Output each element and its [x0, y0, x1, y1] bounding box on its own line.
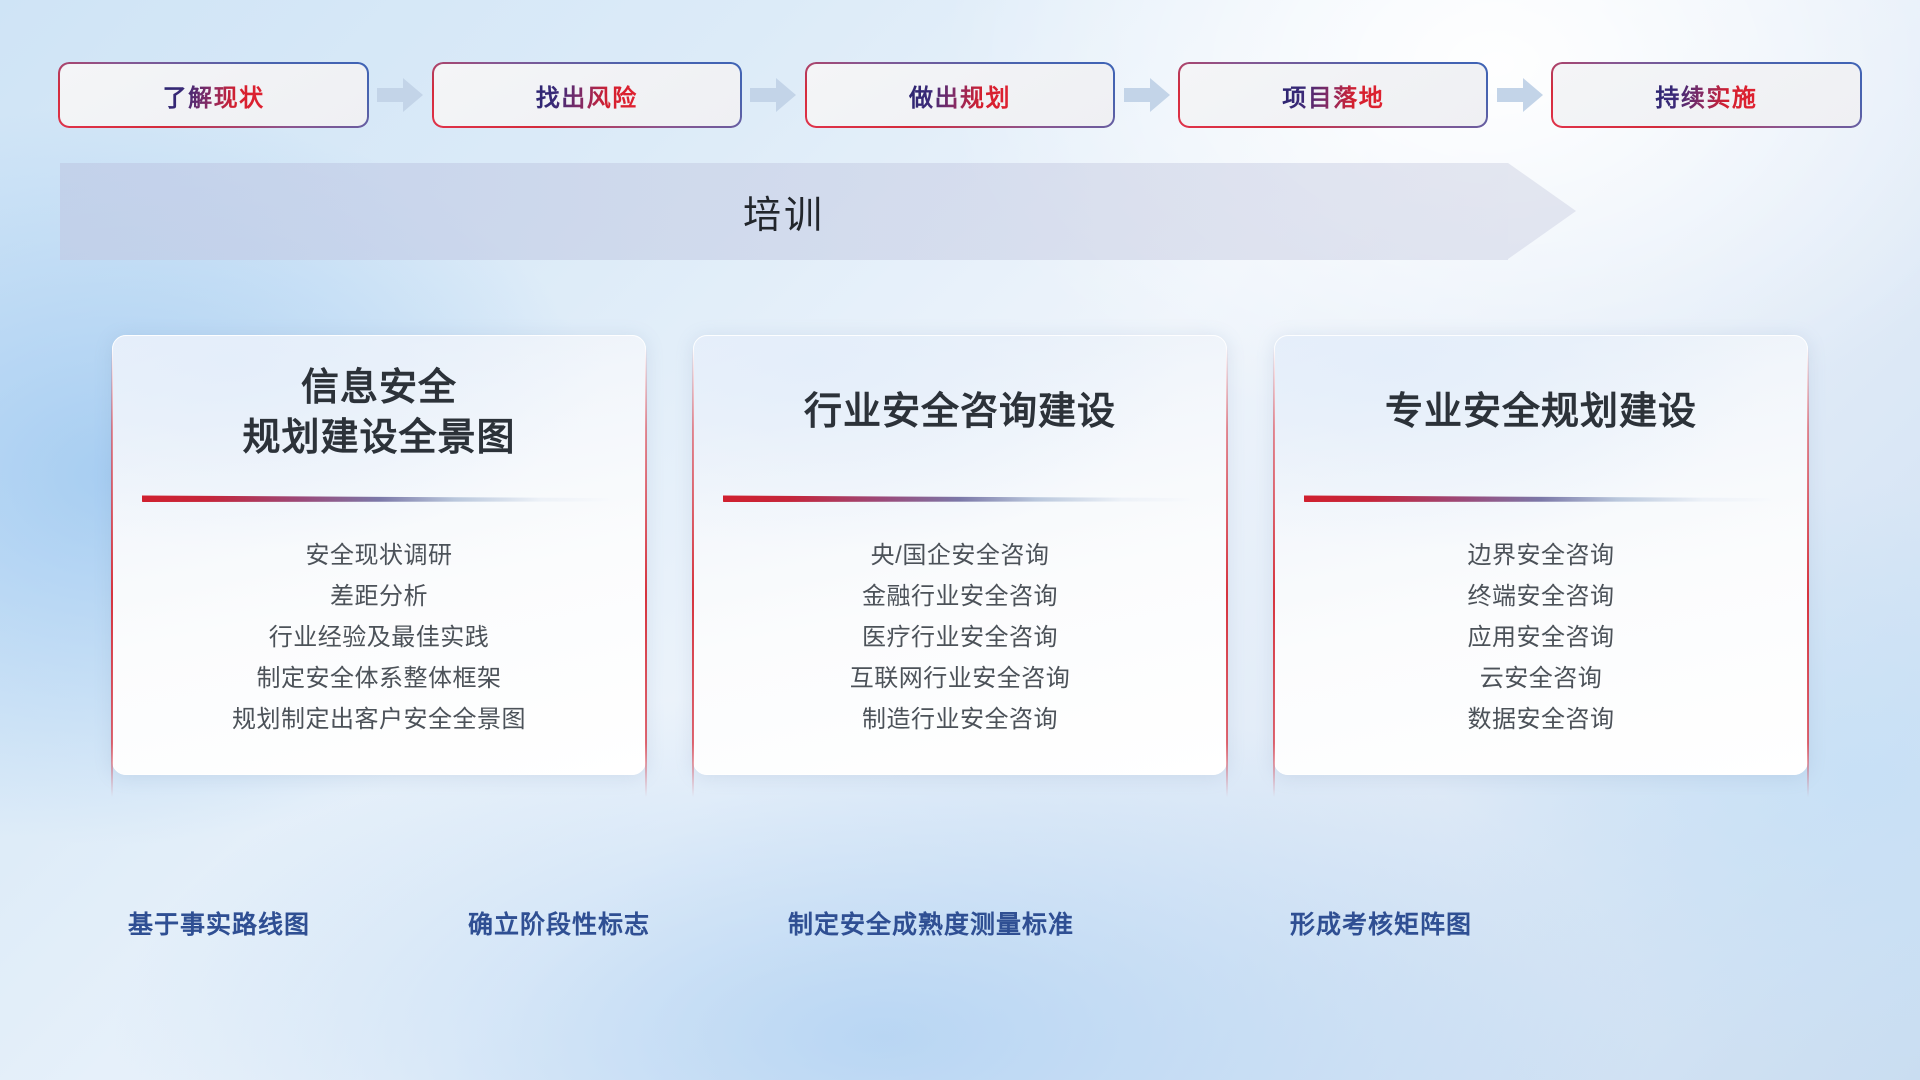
step-label-2: 找出风险	[536, 78, 638, 113]
card-title: 信息安全 规划建设全景图	[112, 363, 646, 463]
list-item: 规划制定出客户安全全景图	[112, 699, 646, 740]
step-arrow-3	[1114, 64, 1180, 126]
list-item: 差距分析	[112, 576, 646, 617]
step-label-3: 做出规划	[909, 78, 1011, 113]
list-item: 数据安全咨询	[1274, 699, 1808, 740]
list-item: 制定安全体系整体框架	[112, 658, 646, 699]
list-item: 云安全咨询	[1274, 658, 1808, 699]
card-divider	[142, 495, 616, 502]
list-item: 应用安全咨询	[1274, 617, 1808, 658]
step-box-5[interactable]: 持续实施	[1553, 64, 1860, 126]
card-item-list: 边界安全咨询 终端安全咨询 应用安全咨询 云安全咨询 数据安全咨询	[1274, 535, 1808, 740]
arrow-right-icon	[377, 78, 423, 112]
card-item-list: 央/国企安全咨询 金融行业安全咨询 医疗行业安全咨询 互联网行业安全咨询 制造行…	[693, 535, 1227, 740]
bottom-label-1: 基于事实路线图	[128, 905, 310, 941]
card-industry-security-consulting[interactable]: 行业安全咨询建设 央/国企安全咨询 金融行业安全咨询 医疗行业安全咨询 互联网行…	[693, 335, 1227, 775]
bottom-label-row: 基于事实路线图 确立阶段性标志 制定安全成熟度测量标准 形成考核矩阵图	[0, 905, 1920, 945]
step-box-2[interactable]: 找出风险	[433, 64, 740, 126]
list-item: 互联网行业安全咨询	[693, 658, 1227, 699]
bottom-label-4: 形成考核矩阵图	[1290, 905, 1472, 941]
card-row: 信息安全 规划建设全景图 安全现状调研 差距分析 行业经验及最佳实践 制定安全体…	[112, 335, 1808, 775]
training-banner-label: 培训	[743, 184, 825, 239]
list-item: 行业经验及最佳实践	[112, 617, 646, 658]
list-item: 央/国企安全咨询	[693, 535, 1227, 576]
list-item: 医疗行业安全咨询	[693, 617, 1227, 658]
training-banner: 培训	[60, 163, 1508, 260]
list-item: 终端安全咨询	[1274, 576, 1808, 617]
step-arrow-1	[367, 64, 433, 126]
card-info-security-blueprint[interactable]: 信息安全 规划建设全景图 安全现状调研 差距分析 行业经验及最佳实践 制定安全体…	[112, 335, 646, 775]
step-box-1[interactable]: 了解现状	[60, 64, 367, 126]
arrow-right-icon	[750, 78, 796, 112]
list-item: 金融行业安全咨询	[693, 576, 1227, 617]
card-professional-security-planning[interactable]: 专业安全规划建设 边界安全咨询 终端安全咨询 应用安全咨询 云安全咨询 数据安全…	[1274, 335, 1808, 775]
arrow-right-icon	[1497, 78, 1543, 112]
card-title: 专业安全规划建设	[1274, 387, 1808, 437]
step-label-1: 了解现状	[163, 78, 265, 113]
card-divider	[723, 495, 1197, 502]
process-step-row: 了解现状 找出风险 做出规划 项目落地 持续实施	[60, 64, 1860, 126]
step-arrow-2	[740, 64, 806, 126]
step-arrow-4	[1487, 64, 1553, 126]
step-box-3[interactable]: 做出规划	[806, 64, 1113, 126]
training-banner-arrow-tip	[1508, 163, 1576, 259]
card-title: 行业安全咨询建设	[693, 387, 1227, 437]
card-divider	[1304, 495, 1778, 502]
step-box-4[interactable]: 项目落地	[1180, 64, 1487, 126]
list-item: 制造行业安全咨询	[693, 699, 1227, 740]
step-label-4: 项目落地	[1282, 78, 1384, 113]
card-item-list: 安全现状调研 差距分析 行业经验及最佳实践 制定安全体系整体框架 规划制定出客户…	[112, 535, 646, 740]
list-item: 边界安全咨询	[1274, 535, 1808, 576]
bottom-label-2: 确立阶段性标志	[468, 905, 650, 941]
list-item: 安全现状调研	[112, 535, 646, 576]
bottom-label-3: 制定安全成熟度测量标准	[788, 905, 1074, 941]
arrow-right-icon	[1124, 78, 1170, 112]
step-label-5: 持续实施	[1655, 78, 1757, 113]
